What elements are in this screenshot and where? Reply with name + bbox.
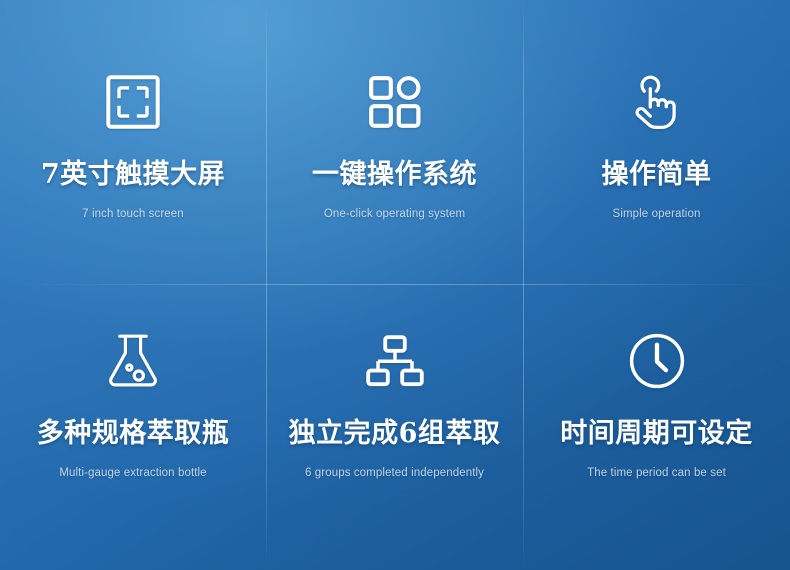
feature-card-six-groups[interactable]: 独立完成6组萃取 6 groups completed independentl… [266,285,523,570]
flask-icon [106,325,160,397]
feature-title: 独立完成6组萃取 [289,419,501,449]
feature-title: 一键操作系统 [312,160,477,190]
feature-title: 操作简单 [602,160,712,190]
feature-subtitle: 7 inch touch screen [82,208,184,220]
feature-subtitle: 6 groups completed independently [305,467,484,479]
feature-subtitle: One-click operating system [324,208,465,220]
feature-card-extraction-bottle[interactable]: 多种规格萃取瓶 Multi-gauge extraction bottle [0,285,266,570]
feature-card-simple-operation[interactable]: 操作简单 Simple operation [523,0,790,285]
feature-title: 7英寸触摸大屏 [41,160,225,190]
feature-subtitle: The time period can be set [587,467,726,479]
feature-subtitle: Simple operation [613,208,701,220]
feature-card-one-click-os[interactable]: 一键操作系统 One-click operating system [266,0,523,285]
hierarchy-icon [366,325,424,397]
divider-vertical-right [523,0,524,570]
clock-icon [629,325,685,397]
feature-subtitle: Multi-gauge extraction bottle [59,467,206,479]
tap-hand-icon [630,66,684,138]
feature-board: 7英寸触摸大屏 7 inch touch screen 一键操作系统 One-c… [0,0,790,570]
feature-title: 多种规格萃取瓶 [37,419,230,449]
app-grid-icon [369,66,421,138]
divider-horizontal [0,284,790,285]
fullscreen-frame-icon [106,66,160,138]
feature-grid: 7英寸触摸大屏 7 inch touch screen 一键操作系统 One-c… [0,0,790,570]
feature-card-touch-screen[interactable]: 7英寸触摸大屏 7 inch touch screen [0,0,266,285]
feature-title: 时间周期可设定 [560,419,753,449]
feature-card-time-period[interactable]: 时间周期可设定 The time period can be set [523,285,790,570]
divider-vertical-left [266,0,267,570]
